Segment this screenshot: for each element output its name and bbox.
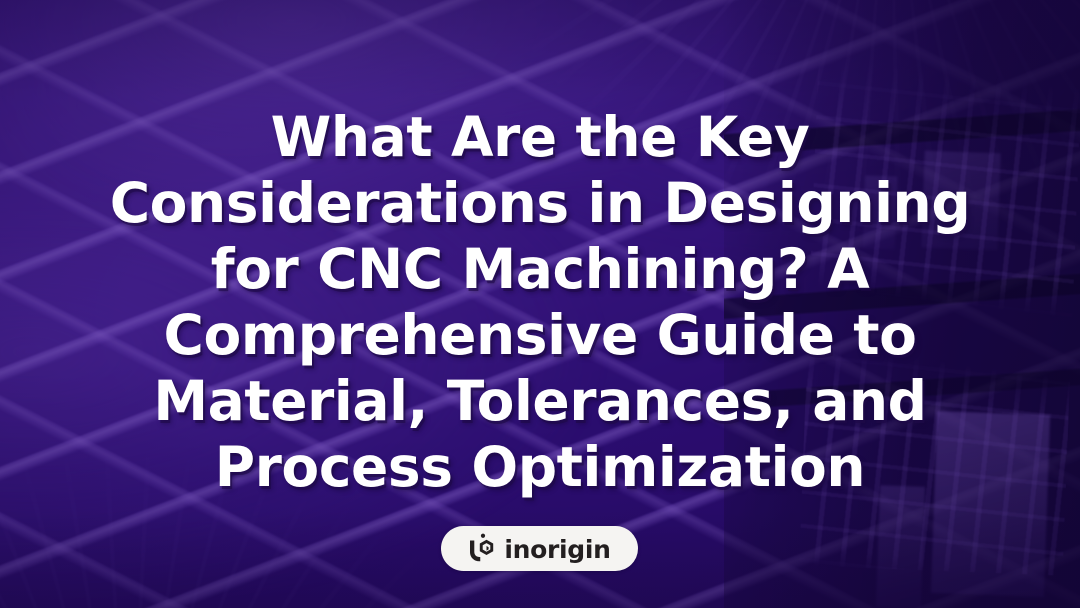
title-line-3: for CNC Machining? A [46,236,1034,302]
logo-wordmark: inorigin [504,537,610,562]
title-line-5: Material, Tolerances, and [46,368,1034,434]
featured-image-banner: What Are the Key Considerations in Desig… [0,0,1080,608]
title-line-6: Process Optimization [46,434,1034,500]
page-title: What Are the Key Considerations in Desig… [0,104,1080,500]
hexagon-cube-icon [468,533,495,563]
title-line-4: Comprehensive Guide to [46,302,1034,368]
brand-logo[interactable]: inorigin [441,526,638,571]
title-line-2: Considerations in Designing [46,170,1034,236]
title-line-1: What Are the Key [46,104,1034,170]
banner-content: What Are the Key Considerations in Desig… [0,0,1080,608]
